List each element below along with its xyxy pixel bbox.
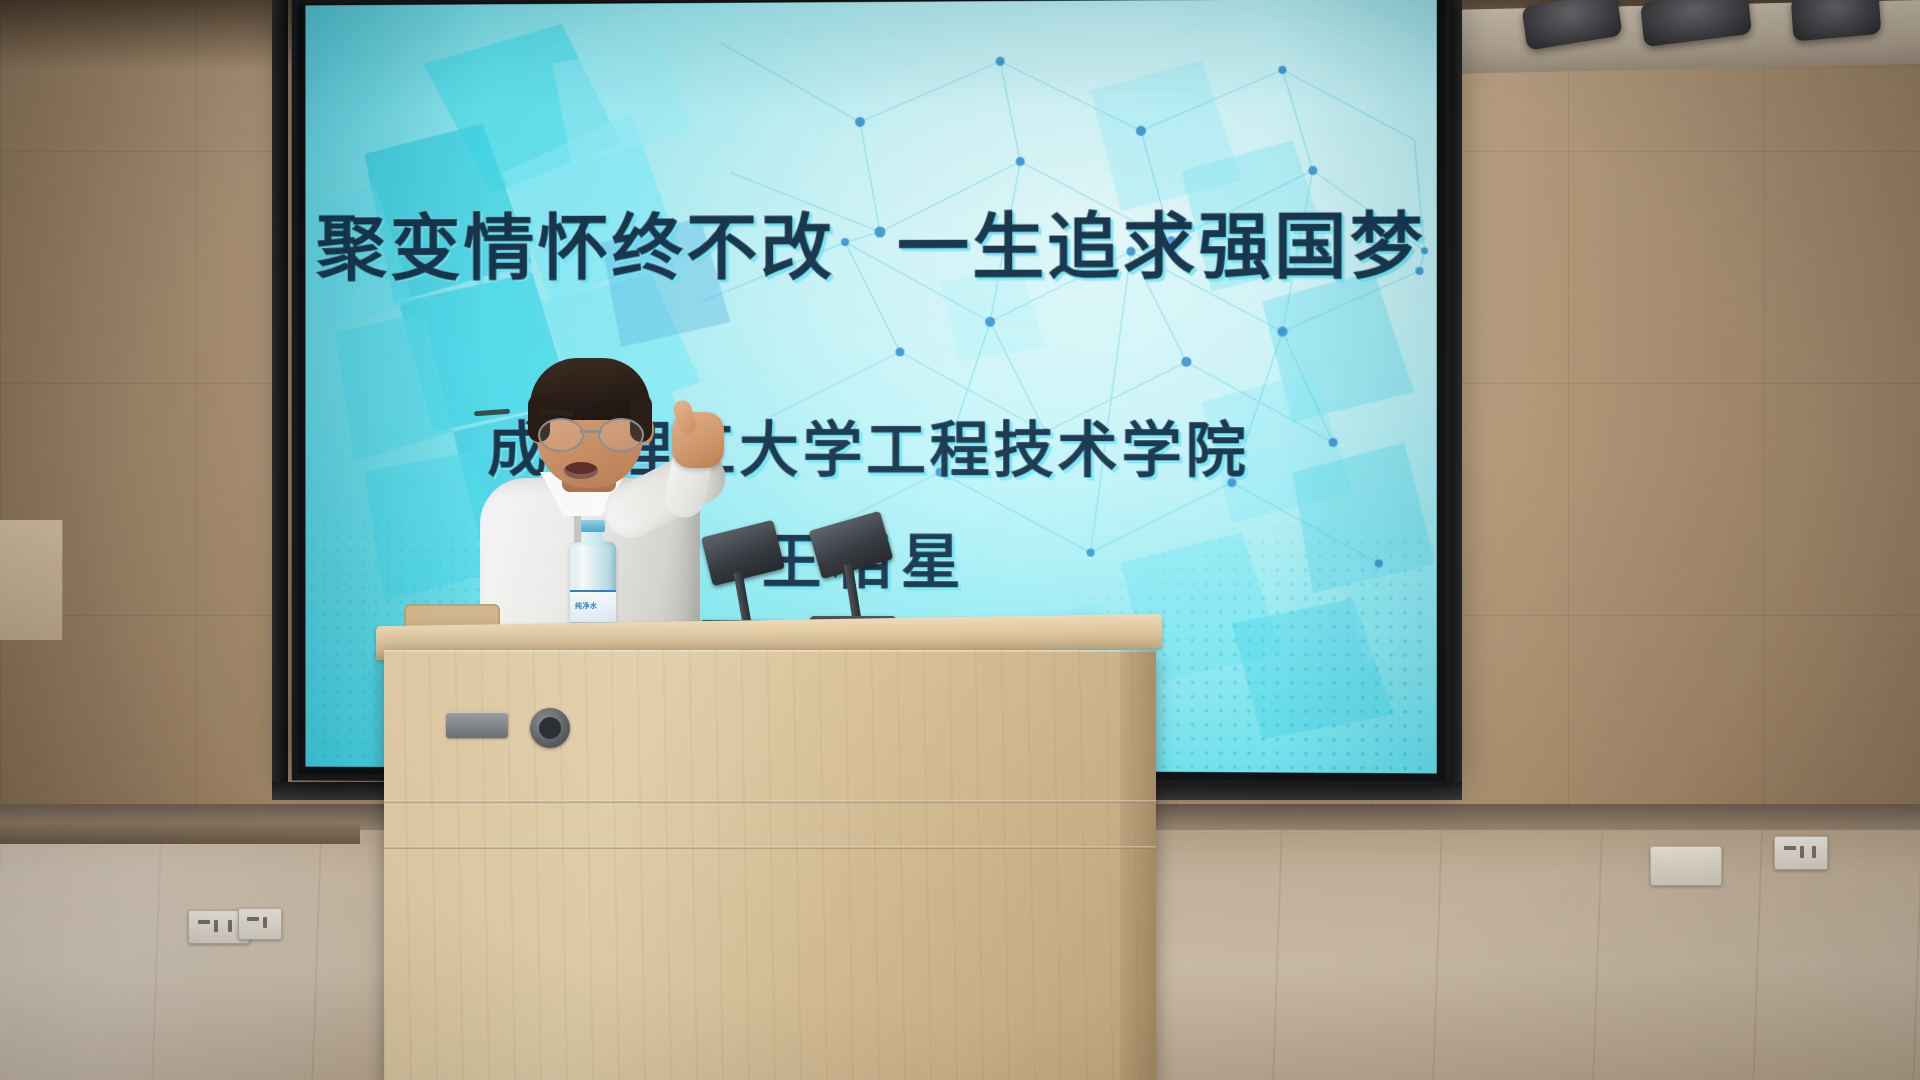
podium-name-plate <box>446 712 508 738</box>
wall-outlet-right[interactable] <box>1774 836 1828 870</box>
speaker-mouth <box>564 462 598 479</box>
eyeglass-bridge <box>580 430 602 433</box>
wall-panel-left <box>0 520 63 640</box>
podium-body[interactable] <box>384 650 1156 1080</box>
baseboard-left <box>0 822 360 844</box>
ceiling-light-fixture <box>1521 0 1622 51</box>
speaker-person <box>470 360 770 660</box>
podium-seam <box>384 846 1156 849</box>
eyeglass-lens-right <box>598 418 644 452</box>
ceiling-light-fixture <box>1640 0 1752 47</box>
podium-right-edge <box>1120 650 1156 1080</box>
bottle-label-text: 纯净水 <box>575 601 598 611</box>
ceiling-light-fixture <box>1791 0 1882 42</box>
speaker-eyebrow-left <box>474 409 510 416</box>
wall-junction-box <box>1650 846 1722 886</box>
wall-outlet-left-upper[interactable] <box>238 908 282 940</box>
bottle-label: 纯净水 <box>570 590 616 623</box>
podium-seam <box>384 800 1156 803</box>
eyeglasses <box>538 418 644 448</box>
eyeglass-lens-left <box>538 418 584 452</box>
podium-cable-grommet <box>530 708 570 748</box>
screen-trim-left <box>272 0 288 794</box>
lecture-hall-scene: 聚变情怀终不改一生追求强国梦 成都理工大学工程技术学院 王相星 <box>0 0 1920 1080</box>
bottle-cap <box>581 520 605 532</box>
